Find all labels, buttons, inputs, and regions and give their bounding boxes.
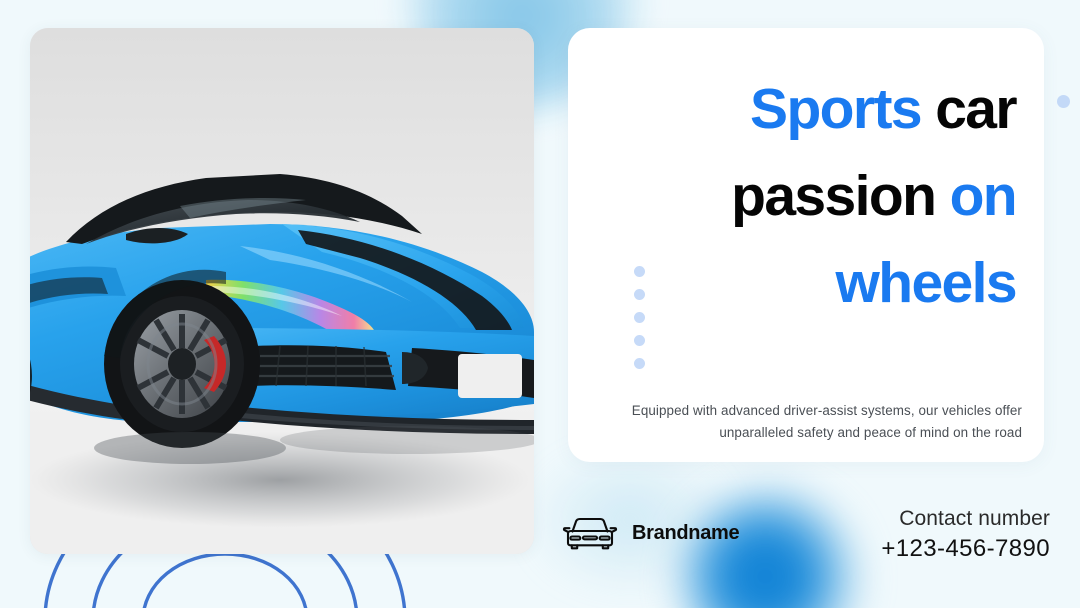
contact-number: +123-456-7890 (881, 533, 1050, 565)
decor-dot (634, 335, 645, 346)
brand-name: Brandname (632, 522, 739, 545)
headline-word-car: car (935, 77, 1016, 141)
headline-word-wheels: wheels (836, 251, 1017, 315)
hero-car-photo (30, 28, 534, 554)
contact-block: Contact number +123-456-7890 (881, 505, 1050, 566)
headline-word-passion: passion (731, 164, 935, 228)
contact-label: Contact number (881, 505, 1050, 533)
decor-dot-column (634, 266, 645, 369)
dot-decor-right (1057, 95, 1070, 108)
page-title: Sports car passion on wheels (596, 66, 1016, 328)
decor-dot (634, 312, 645, 323)
headline-word-sports: Sports (750, 77, 921, 141)
headline-card: Sports car passion on wheels Equipped wi… (568, 28, 1044, 462)
body-copy: Equipped with advanced driver-assist sys… (624, 400, 1022, 443)
car-front-icon (560, 513, 620, 553)
decor-dot (634, 358, 645, 369)
car-illustration (30, 28, 534, 554)
decor-dot (634, 289, 645, 300)
brand-lockup: Brandname (560, 513, 739, 553)
decor-dot (634, 266, 645, 277)
headline-word-on: on (950, 164, 1016, 228)
